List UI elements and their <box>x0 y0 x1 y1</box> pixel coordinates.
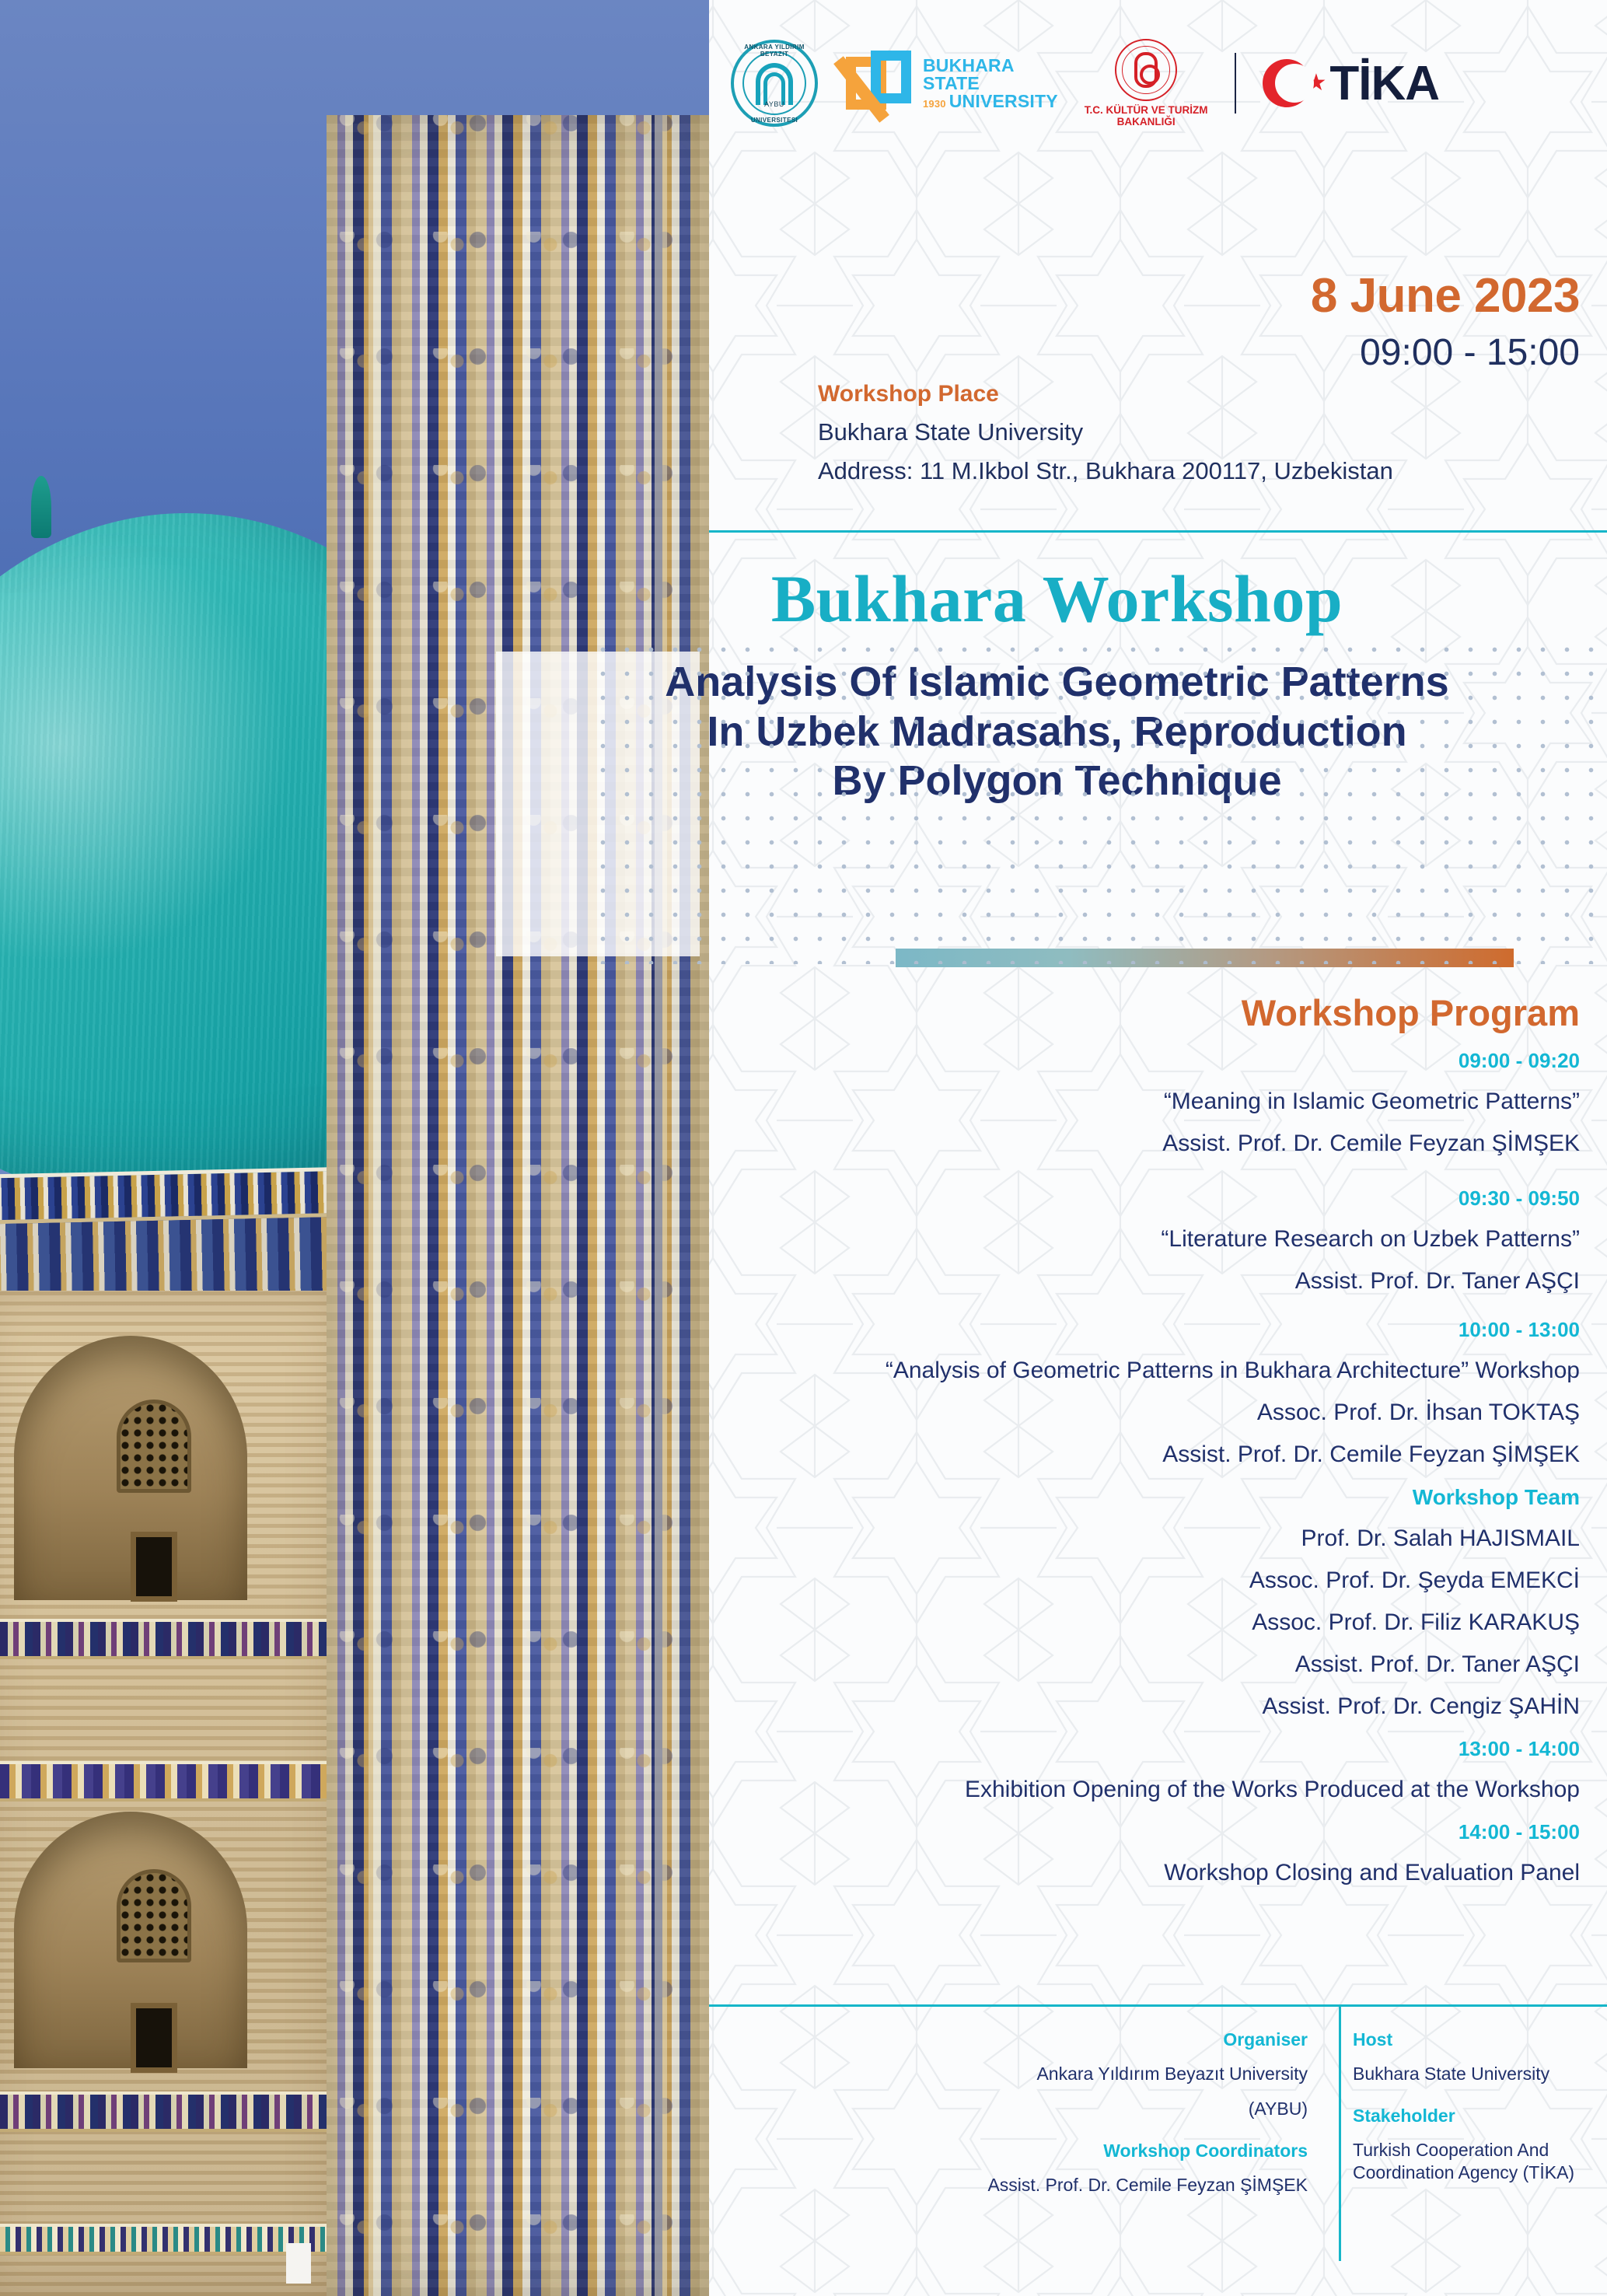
content-column: ANKARA YILDIRIM BEYAZIT AYBU UNIVERSITES… <box>709 0 1607 2296</box>
team-member: Assist. Prof. Dr. Cengiz ŞAHİN <box>709 1693 1580 1720</box>
dot-row-above-bar <box>902 924 1516 933</box>
bsu-line1: BUKHARA <box>923 57 1058 75</box>
place-label: Workshop Place <box>818 381 1607 407</box>
bsu-wordmark: BUKHARA STATE 1930UNIVERSITY <box>923 57 1058 110</box>
subtitle-line-3: By Polygon Technique <box>507 757 1607 806</box>
window-grille-lower <box>117 1869 191 1962</box>
footer-vertical-divider <box>1339 2004 1341 2261</box>
sponsor-logo-bar: ANKARA YILDIRIM BEYAZIT AYBU UNIVERSITES… <box>709 37 1607 129</box>
program-item-time: 09:00 - 09:20 <box>709 1049 1580 1073</box>
kultur-line2: BAKANLIĞI <box>1085 116 1208 128</box>
event-place-block: Workshop Place Bukhara State University … <box>709 381 1607 485</box>
aybu-abbrev: AYBU <box>731 100 818 108</box>
subtitle-line-2: In Uzbek Madrasahs, Reproduction <box>507 708 1607 757</box>
workshop-poster: ANKARA YILDIRIM BEYAZIT AYBU UNIVERSITES… <box>0 0 1607 2296</box>
organiser-label: Organiser <box>709 2029 1308 2050</box>
bsu-mark-icon <box>844 47 916 119</box>
coordinators-label: Workshop Coordinators <box>709 2140 1308 2161</box>
program-item-line: Assoc. Prof. Dr. İhsan TOKTAŞ <box>709 1400 1580 1426</box>
gradient-accent-bar <box>896 949 1514 967</box>
tile-band-2 <box>0 1761 365 1802</box>
kultur-wordmark: T.C. KÜLTÜR VE TURİZM BAKANLIĞI <box>1085 104 1208 128</box>
tika-wordmark: TİKA <box>1329 56 1439 111</box>
organiser-abbrev: (AYBU) <box>709 2098 1308 2120</box>
title-block: Bukhara Workshop Analysis Of Islamic Geo… <box>507 560 1607 806</box>
tiled-pylon <box>327 115 709 2296</box>
pylon-frame <box>369 115 667 2296</box>
tika-logo: ★ TİKA <box>1263 56 1440 111</box>
program-item-line: Exhibition Opening of the Works Produced… <box>709 1777 1580 1803</box>
team-member: Prof. Dr. Salah HAJISMAIL <box>709 1525 1580 1552</box>
footer-organiser-column: Organiser Ankara Yıldırım Beyazıt Univer… <box>709 2029 1331 2196</box>
program-item-line: “Analysis of Geometric Patterns in Bukha… <box>709 1358 1580 1384</box>
bsu-year: 1930 <box>923 99 946 109</box>
program-item-time: 10:00 - 13:00 <box>709 1318 1580 1342</box>
program-item-line: Assist. Prof. Dr. Taner AŞÇI <box>709 1268 1580 1295</box>
crescent-icon <box>1263 59 1311 107</box>
kultur-line1: T.C. KÜLTÜR VE TURİZM <box>1085 104 1208 116</box>
program-item-line: Assist. Prof. Dr. Cemile Feyzan ŞİMŞEK <box>709 1442 1580 1468</box>
bsu-line2: STATE <box>923 75 1058 93</box>
program-item: 09:00 - 09:20 “Meaning in Islamic Geomet… <box>709 1049 1580 1157</box>
footer-block: Organiser Ankara Yıldırım Beyazıt Univer… <box>709 2029 1607 2239</box>
window-grille-upper <box>117 1400 191 1493</box>
team-member: Assist. Prof. Dr. Taner AŞÇI <box>709 1651 1580 1678</box>
tile-band-1 <box>0 1619 365 1659</box>
page-subtitle: Analysis Of Islamic Geometric Patterns I… <box>507 658 1607 806</box>
logo-divider <box>1235 53 1236 114</box>
program-item-line: “Literature Research on Uzbek Patterns” <box>709 1226 1580 1253</box>
program-item: 10:00 - 13:00 “Analysis of Geometric Pat… <box>709 1318 1580 1468</box>
bsu-line3: UNIVERSITY <box>949 91 1058 111</box>
bukhara-state-university-logo: BUKHARA STATE 1930UNIVERSITY <box>844 47 1058 119</box>
program-heading: Workshop Program <box>709 991 1580 1034</box>
bukhara-madrasah-photo <box>0 0 709 2296</box>
place-name: Bukhara State University <box>818 418 1607 446</box>
program-item-time: 09:30 - 09:50 <box>709 1186 1580 1211</box>
event-date: 8 June 2023 <box>709 268 1580 323</box>
team-member: Assoc. Prof. Dr. Şeyda EMEKCİ <box>709 1567 1580 1594</box>
program-list: 09:00 - 09:20 “Meaning in Islamic Geomet… <box>709 1046 1580 1886</box>
kultur-turizm-logo: T.C. KÜLTÜR VE TURİZM BAKANLIĞI <box>1085 39 1208 128</box>
stakeholder-label: Stakeholder <box>1353 2106 1602 2127</box>
subtitle-line-1: Analysis Of Islamic Geometric Patterns <box>507 658 1607 708</box>
host-name: Bukhara State University <box>1353 2063 1602 2085</box>
divider-rule-top <box>709 530 1607 533</box>
program-item-line: “Meaning in Islamic Geometric Patterns” <box>709 1089 1580 1115</box>
stakeholder-name: Turkish Cooperation And Coordination Age… <box>1353 2139 1602 2184</box>
footer-host-column: Host Bukhara State University Stakeholde… <box>1353 2029 1602 2183</box>
program-item-line: Workshop Closing and Evaluation Panel <box>709 1860 1580 1886</box>
organiser-name: Ankara Yıldırım Beyazıt University <box>709 2063 1308 2085</box>
aybu-seal-icon: ANKARA YILDIRIM BEYAZIT AYBU UNIVERSITES… <box>731 40 818 127</box>
divider-rule-bottom <box>709 2004 1607 2007</box>
event-date-block: 8 June 2023 09:00 - 15:00 <box>709 268 1580 374</box>
team-member: Assoc. Prof. Dr. Filiz KARAKUŞ <box>709 1609 1580 1636</box>
dome-finial <box>31 476 51 538</box>
program-item-line: Assist. Prof. Dr. Cemile Feyzan ŞİMŞEK <box>709 1131 1580 1157</box>
place-address: Address: 11 M.Ikbol Str., Bukhara 200117… <box>818 457 1607 485</box>
doorway-upper <box>131 1532 177 1602</box>
aybu-seal-bottom-text: UNIVERSITESI <box>731 117 818 124</box>
kultur-seal-icon <box>1115 39 1177 101</box>
event-time: 09:00 - 15:00 <box>709 331 1580 374</box>
page-title: Bukhara Workshop <box>507 560 1607 638</box>
program-item: 09:30 - 09:50 “Literature Research on Uz… <box>709 1186 1580 1295</box>
coordinator-name: Assist. Prof. Dr. Cemile Feyzan ŞİMŞEK <box>709 2174 1308 2196</box>
aybu-seal-top-text: ANKARA YILDIRIM BEYAZIT <box>731 44 818 58</box>
host-label: Host <box>1353 2029 1602 2050</box>
program-item-time: 13:00 - 14:00 <box>709 1737 1580 1761</box>
aybu-logo: ANKARA YILDIRIM BEYAZIT AYBU UNIVERSITES… <box>731 40 818 127</box>
doorway-lower <box>131 2003 177 2073</box>
tile-band-3 <box>0 2092 365 2132</box>
white-sign <box>286 2243 311 2284</box>
program-item-time: 14:00 - 15:00 <box>709 1820 1580 1844</box>
workshop-team-label: Workshop Team <box>709 1485 1580 1510</box>
